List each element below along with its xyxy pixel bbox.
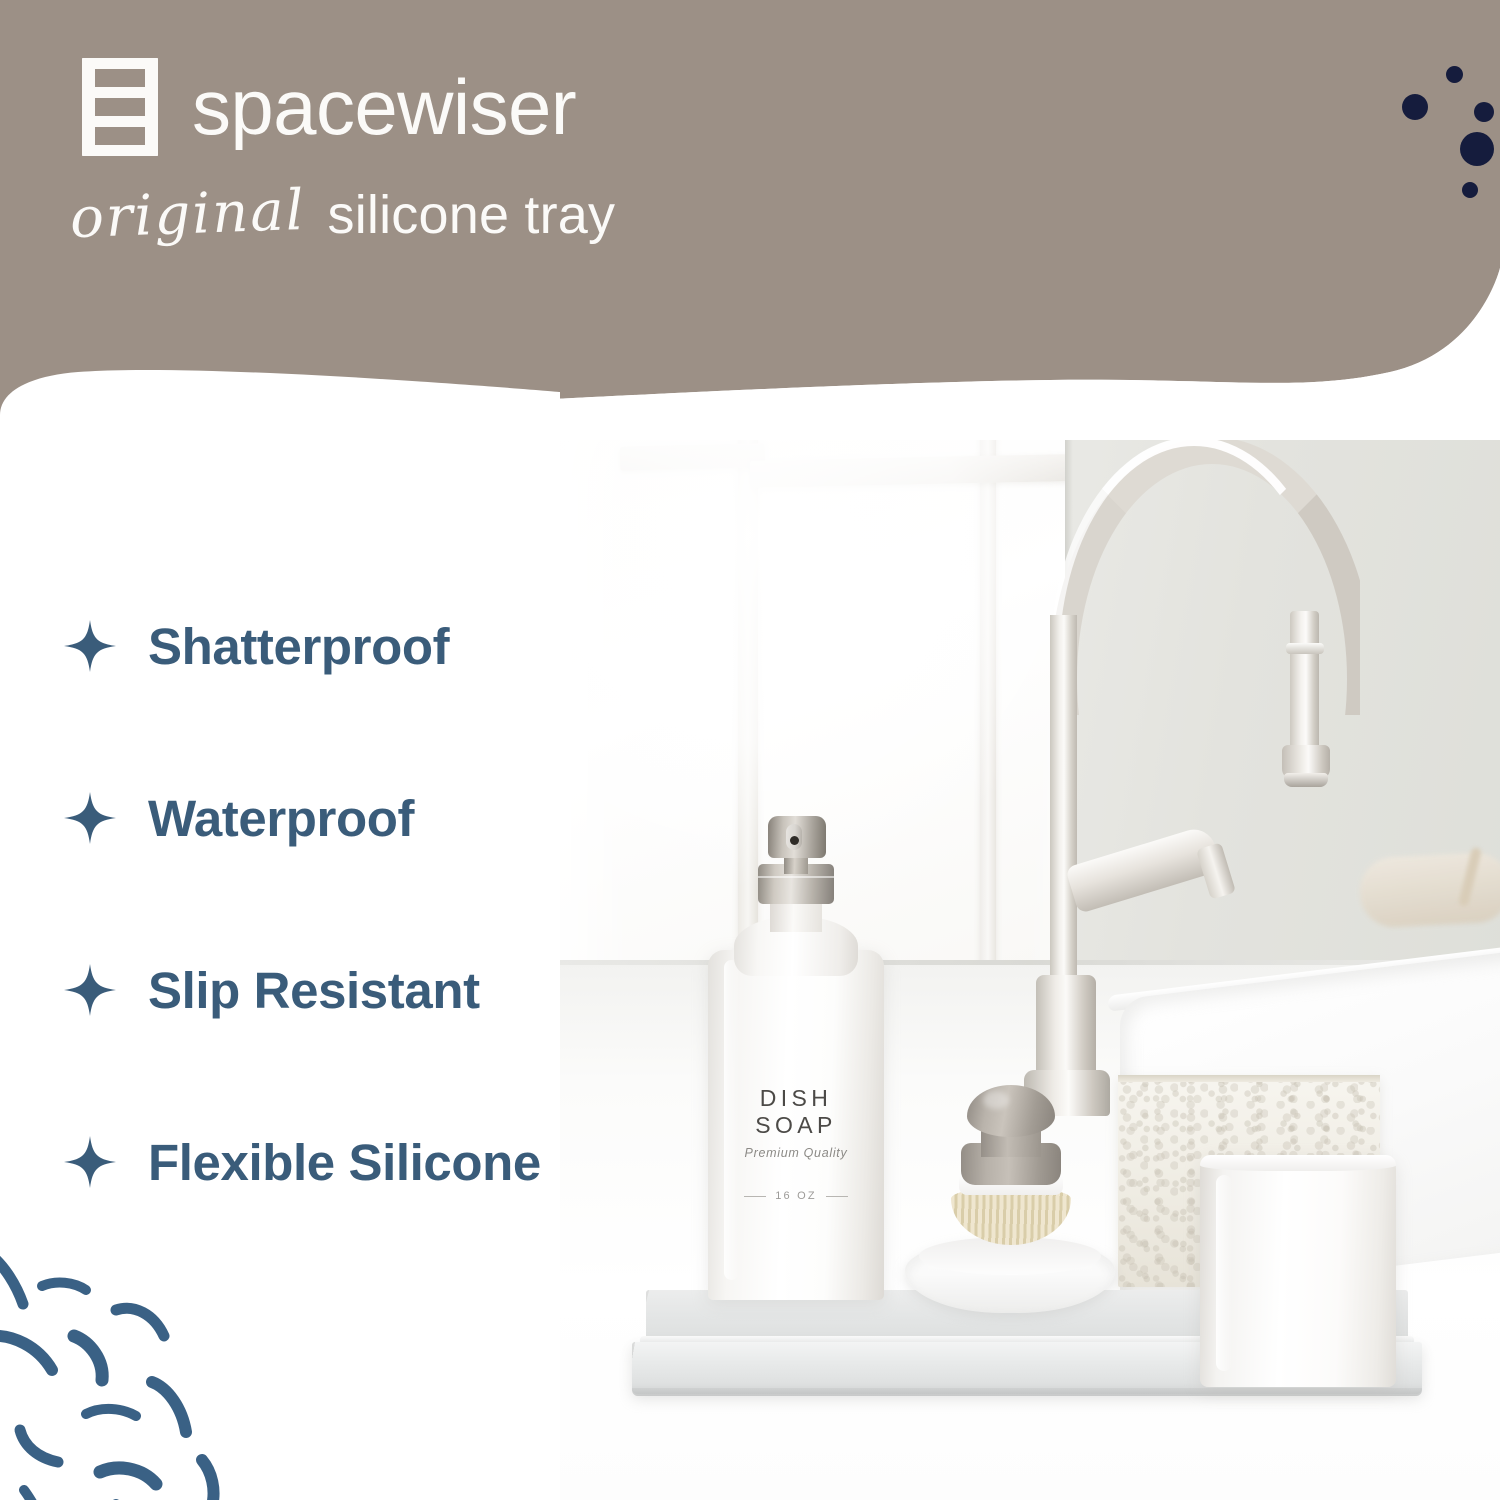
soap-dispenser: DISH SOAP Premium Quality 16 OZ xyxy=(708,830,884,1300)
cup-rim xyxy=(1200,1155,1396,1171)
decor-dot-3 xyxy=(1460,132,1494,166)
brand-name: spacewiser xyxy=(192,68,576,146)
feature-list: ShatterproofWaterproofSlip ResistantFlex… xyxy=(64,560,634,1248)
feature-item-0: Shatterproof xyxy=(64,560,634,732)
sponge-top-edge xyxy=(1118,1075,1380,1082)
brush-bristles xyxy=(951,1187,1071,1245)
feature-label: Flexible Silicone xyxy=(148,1133,541,1192)
tagline-plain: silicone tray xyxy=(328,184,616,246)
decorative-dots xyxy=(1370,40,1500,210)
pump-nozzle-hole xyxy=(790,836,799,845)
faucet-handle xyxy=(1065,824,1222,914)
faucet-downspout xyxy=(1290,611,1319,757)
pump-collar-line xyxy=(758,876,834,878)
bottle-volume: 16 OZ xyxy=(724,1190,868,1202)
feature-item-2: Slip Resistant xyxy=(64,904,634,1076)
decor-dot-0 xyxy=(1446,66,1463,83)
faucet-aerator xyxy=(1284,773,1328,787)
header-content: spacewiser original silicone tray xyxy=(0,0,1500,340)
product-photo: spacewiser xyxy=(560,385,1500,1500)
bottle-label-title: DISH SOAP xyxy=(722,1085,870,1139)
decor-dot-1 xyxy=(1402,94,1428,120)
poster-canvas: spacewiser xyxy=(0,0,1500,1500)
brand-lockup: spacewiser xyxy=(82,58,576,156)
tagline-script: original xyxy=(69,178,307,251)
feature-label: Shatterproof xyxy=(148,617,449,676)
feature-label: Waterproof xyxy=(148,789,414,848)
tagline: original silicone tray xyxy=(70,182,615,247)
decor-dot-4 xyxy=(1462,182,1478,198)
faucet-ring xyxy=(1286,643,1324,654)
four-point-star-icon xyxy=(64,620,116,672)
faucet xyxy=(1020,415,1390,1105)
dish-brush xyxy=(949,1087,1073,1259)
decor-dot-2 xyxy=(1474,102,1494,122)
four-point-star-icon xyxy=(64,1136,116,1188)
bottle-label-subtitle: Premium Quality xyxy=(722,1146,870,1160)
brush-knob xyxy=(967,1085,1055,1137)
cup-highlight xyxy=(1216,1175,1232,1371)
brush-stroke-decoration xyxy=(0,1218,280,1500)
feature-item-1: Waterproof xyxy=(64,732,634,904)
brush-knob-highlight xyxy=(983,1091,1009,1109)
four-point-star-icon xyxy=(64,964,116,1016)
feature-label: Slip Resistant xyxy=(148,961,480,1020)
bottle-label: DISH SOAP Premium Quality xyxy=(722,1085,870,1160)
tray-bottom-lip xyxy=(632,1388,1422,1396)
four-point-star-icon xyxy=(64,792,116,844)
shelf-ladder-icon xyxy=(82,58,158,156)
faucet-handle-cap xyxy=(1196,842,1236,899)
